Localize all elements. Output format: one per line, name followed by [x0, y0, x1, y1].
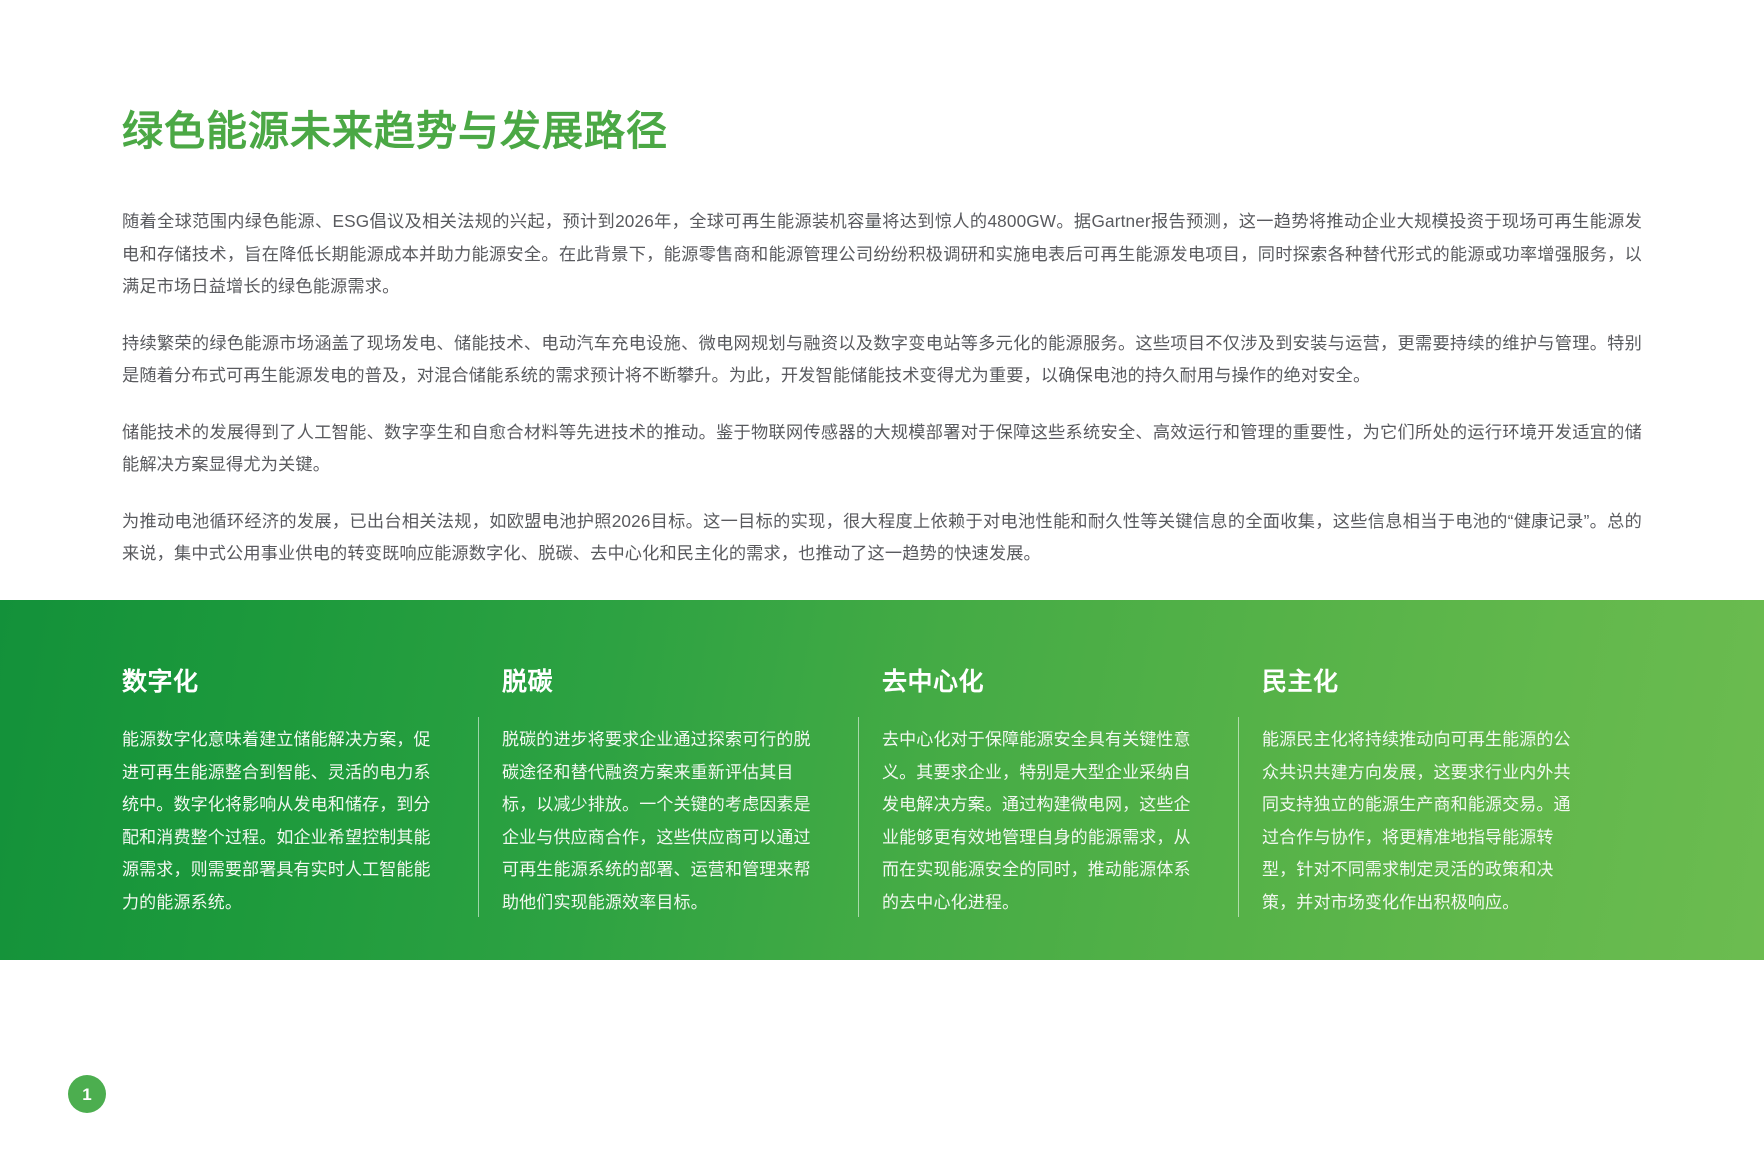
highlight-title: 脱碳 [502, 662, 826, 698]
highlight-body: 去中心化对于保障能源安全具有关键性意义。其要求企业，特别是大型企业采纳自发电解决… [882, 724, 1206, 920]
highlight-column-democratization: 民主化 能源民主化将持续推动向可再生能源的公众共识共建方向发展，这要求行业内外共… [1262, 662, 1642, 920]
highlight-body: 脱碳的进步将要求企业通过探索可行的脱碳途径和替代融资方案来重新评估其目标，以减少… [502, 724, 826, 920]
paragraph-2: 持续繁荣的绿色能源市场涵盖了现场发电、储能技术、电动汽车充电设施、微电网规划与融… [122, 327, 1642, 392]
page-title: 绿色能源未来趋势与发展路径 [122, 97, 668, 157]
highlight-title: 民主化 [1262, 662, 1586, 698]
paragraph-3: 储能技术的发展得到了人工智能、数字孪生和自愈合材料等先进技术的推动。鉴于物联网传… [122, 416, 1642, 481]
highlights-banner: 数字化 能源数字化意味着建立储能解决方案，促进可再生能源整合到智能、灵活的电力系… [0, 600, 1764, 960]
body-copy: 随着全球范围内绿色能源、ESG倡议及相关法规的兴起，预计到2026年，全球可再生… [122, 205, 1642, 570]
highlight-title: 数字化 [122, 662, 446, 698]
highlight-column-decentralization: 去中心化 去中心化对于保障能源安全具有关键性意义。其要求企业，特别是大型企业采纳… [882, 662, 1262, 920]
highlight-body: 能源数字化意味着建立储能解决方案，促进可再生能源整合到智能、灵活的电力系统中。数… [122, 724, 446, 920]
highlight-column-decarbonization: 脱碳 脱碳的进步将要求企业通过探索可行的脱碳途径和替代融资方案来重新评估其目标，… [502, 662, 882, 920]
highlight-body: 能源民主化将持续推动向可再生能源的公众共识共建方向发展，这要求行业内外共同支持独… [1262, 724, 1586, 920]
highlight-title: 去中心化 [882, 662, 1206, 698]
highlights-grid: 数字化 能源数字化意味着建立储能解决方案，促进可再生能源整合到智能、灵活的电力系… [122, 662, 1642, 920]
page-number-badge: 1 [68, 1075, 106, 1113]
paragraph-1: 随着全球范围内绿色能源、ESG倡议及相关法规的兴起，预计到2026年，全球可再生… [122, 205, 1642, 303]
document-page: 绿色能源未来趋势与发展路径 随着全球范围内绿色能源、ESG倡议及相关法规的兴起，… [0, 0, 1764, 1172]
paragraph-4: 为推动电池循环经济的发展，已出台相关法规，如欧盟电池护照2026目标。这一目标的… [122, 505, 1642, 570]
highlight-column-digitalization: 数字化 能源数字化意味着建立储能解决方案，促进可再生能源整合到智能、灵活的电力系… [122, 662, 502, 920]
